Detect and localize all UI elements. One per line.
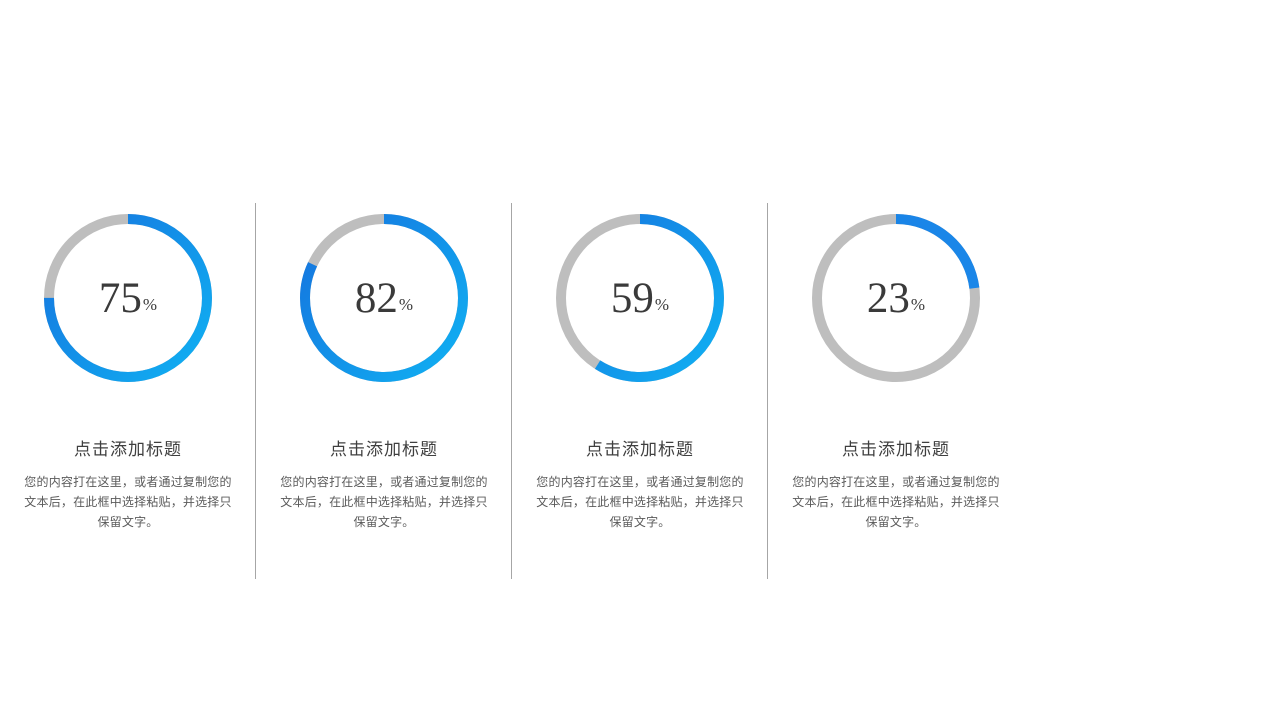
gauge-column[interactable]: 82% 点击添加标题 您的内容打在这里，或者通过复制您的文本后，在此框中选择粘贴… xyxy=(256,196,512,586)
donut-gauge-svg xyxy=(808,210,984,386)
column-body-text[interactable]: 您的内容打在这里，或者通过复制您的文本后，在此框中选择粘贴，并选择只保留文字。 xyxy=(535,472,745,532)
column-title[interactable]: 点击添加标题 xyxy=(586,435,694,460)
column-title[interactable]: 点击添加标题 xyxy=(74,435,182,460)
gauge-column-group: 75% 点击添加标题 您的内容打在这里，或者通过复制您的文本后，在此框中选择粘贴… xyxy=(0,196,1280,586)
gauge-column[interactable]: 59% 点击添加标题 您的内容打在这里，或者通过复制您的文本后，在此框中选择粘贴… xyxy=(512,196,768,586)
donut-gauge[interactable]: 75% xyxy=(40,210,216,386)
donut-gauge[interactable]: 59% xyxy=(552,210,728,386)
donut-gauge[interactable]: 23% xyxy=(808,210,984,386)
donut-gauge-svg xyxy=(552,210,728,386)
donut-gauge[interactable]: 82% xyxy=(296,210,472,386)
donut-gauge-svg xyxy=(40,210,216,386)
slide-canvas: 75% 点击添加标题 您的内容打在这里，或者通过复制您的文本后，在此框中选择粘贴… xyxy=(0,0,1280,720)
column-body-text[interactable]: 您的内容打在这里，或者通过复制您的文本后，在此框中选择粘贴，并选择只保留文字。 xyxy=(279,472,489,532)
column-title[interactable]: 点击添加标题 xyxy=(842,435,950,460)
gauge-column[interactable]: 75% 点击添加标题 您的内容打在这里，或者通过复制您的文本后，在此框中选择粘贴… xyxy=(0,196,256,586)
gauge-column[interactable]: 23% 点击添加标题 您的内容打在这里，或者通过复制您的文本后，在此框中选择粘贴… xyxy=(768,196,1024,586)
column-body-text[interactable]: 您的内容打在这里，或者通过复制您的文本后，在此框中选择粘贴，并选择只保留文字。 xyxy=(791,472,1001,532)
column-title[interactable]: 点击添加标题 xyxy=(330,435,438,460)
column-body-text[interactable]: 您的内容打在这里，或者通过复制您的文本后，在此框中选择粘贴，并选择只保留文字。 xyxy=(23,472,233,532)
donut-gauge-svg xyxy=(296,210,472,386)
